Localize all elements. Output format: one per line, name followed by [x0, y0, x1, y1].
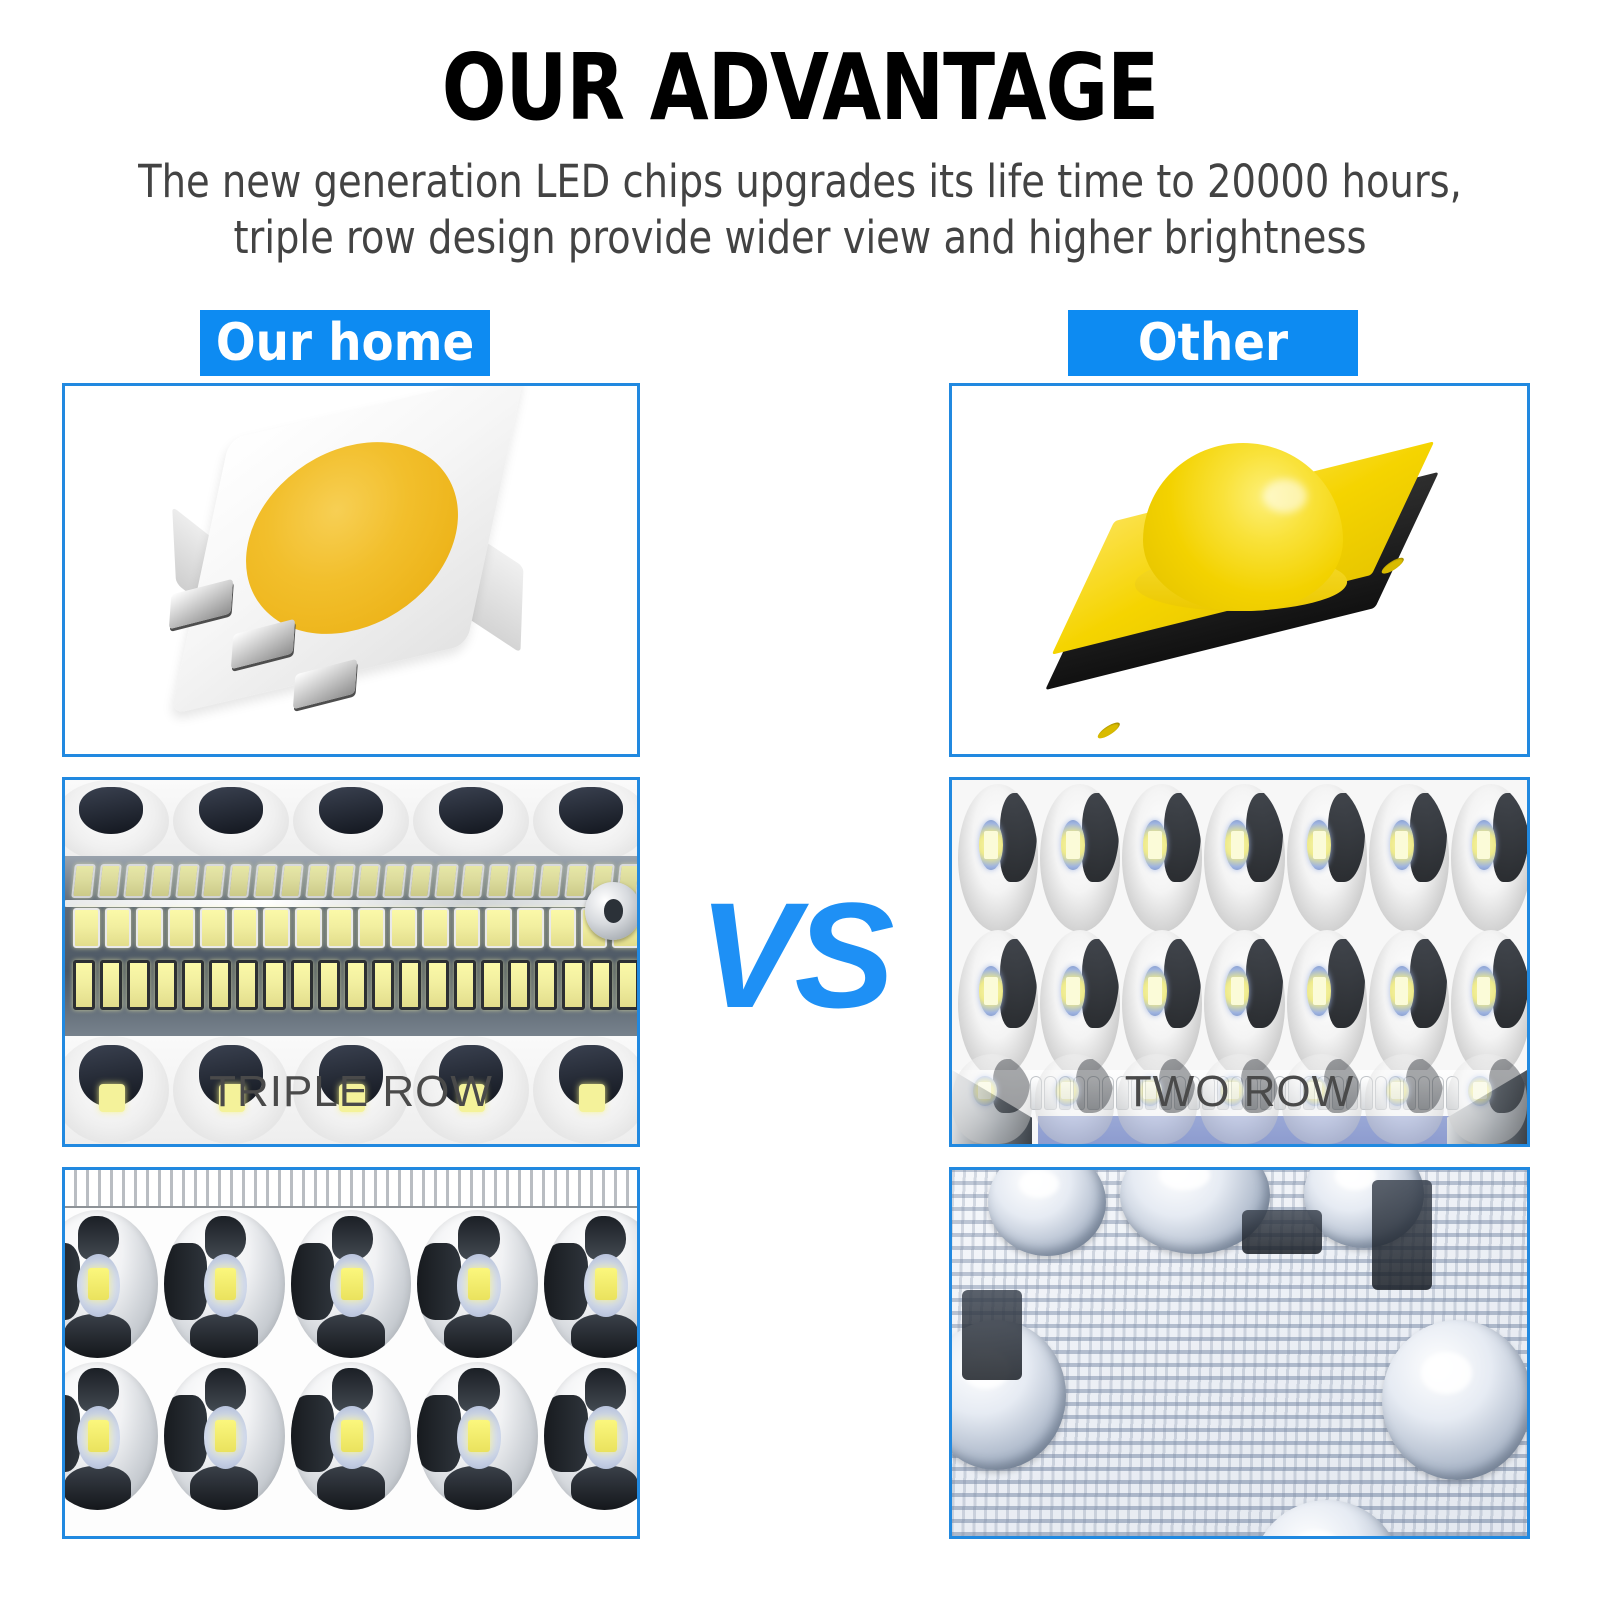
- led-chip: [486, 864, 511, 898]
- led-chip: [383, 864, 408, 898]
- led-chip: [201, 864, 226, 898]
- led-emitter: [979, 820, 1003, 870]
- led-emitter: [1307, 820, 1331, 870]
- led-emitter: [1225, 966, 1249, 1016]
- led-chip: [263, 908, 290, 948]
- cup-shadow: [417, 1243, 460, 1320]
- banner-our-home-label: Our home: [216, 317, 474, 369]
- panel-other-two-row: TWO ROW: [949, 777, 1530, 1147]
- reflector-cup: [1287, 784, 1367, 932]
- banner-other-label: Other: [1138, 317, 1288, 369]
- led-chip: [535, 960, 557, 1010]
- textured-reflector-illustration: [952, 1170, 1527, 1536]
- led-chip: [73, 960, 95, 1010]
- panel-our-home-reflectors: [62, 1167, 640, 1539]
- led-die: [595, 1268, 617, 1301]
- dome-led-photo: [952, 386, 1527, 754]
- dome-led-illustration: [1025, 425, 1455, 715]
- led-chip: [517, 908, 544, 948]
- led-chip: [73, 908, 100, 948]
- led-emitter: [1307, 966, 1331, 1016]
- cup-shadow: [571, 1314, 637, 1358]
- panel-our-home-triple-row: TRIPLE ROW: [62, 777, 640, 1147]
- led-chip: [175, 864, 200, 898]
- header: OUR ADVANTAGE The new generation LED chi…: [0, 0, 1600, 266]
- led-die: [468, 1268, 490, 1301]
- led-emitter: [979, 966, 1003, 1016]
- led-chip: [136, 908, 163, 948]
- led-chip: [291, 960, 313, 1010]
- led-chip-row-3: [73, 960, 637, 1010]
- led-die: [215, 1268, 237, 1301]
- chrome-cup-row-1: [65, 1210, 637, 1358]
- reflector-cup: [1369, 784, 1449, 932]
- led-chip: [426, 960, 448, 1010]
- led-chip-row-1: [73, 864, 637, 898]
- chrome-reflector-cup: [291, 1210, 412, 1358]
- led-chip: [305, 864, 330, 898]
- cup-shadow: [571, 1466, 637, 1510]
- led-emitter: [1472, 966, 1496, 1016]
- reflector-cup: [1040, 784, 1120, 932]
- led-chip: [123, 864, 148, 898]
- reflector-cup: [173, 780, 289, 862]
- reflector-cup: [1451, 784, 1527, 932]
- textured-reflector-photo: [952, 1170, 1527, 1536]
- caption-two-row: TWO ROW: [952, 1068, 1527, 1116]
- led-chip: [590, 960, 612, 1010]
- cup-shadow: [65, 1466, 131, 1510]
- led-die: [341, 1268, 363, 1301]
- reflector-cup: [1204, 784, 1284, 932]
- led-chip: [263, 960, 285, 1010]
- banner-our-home: Our home: [200, 310, 490, 376]
- led-chip: [358, 908, 385, 948]
- led-chip: [232, 908, 259, 948]
- led-chip: [357, 864, 382, 898]
- led-chip: [149, 864, 174, 898]
- reflector-cup: [533, 780, 637, 862]
- chrome-reflector-cup: [544, 1210, 637, 1358]
- smd-5050-led-illustration: [136, 405, 566, 735]
- led-chip: [422, 908, 449, 948]
- chrome-reflector-illustration: [65, 1170, 637, 1536]
- chrome-cup-row-2: [65, 1362, 637, 1510]
- chrome-reflector-cup: [544, 1362, 637, 1510]
- led-chip: [182, 960, 204, 1010]
- led-chip: [253, 864, 278, 898]
- cup-shadow: [190, 1314, 258, 1358]
- led-chip: [461, 864, 486, 898]
- infographic-root: OUR ADVANTAGE The new generation LED chi…: [0, 0, 1600, 1600]
- housing-lip: [65, 1170, 637, 1208]
- cup-shadow: [291, 1395, 334, 1472]
- cup-shadow: [444, 1466, 512, 1510]
- vs-label: VS: [640, 880, 949, 1030]
- page-title: OUR ADVANTAGE: [64, 40, 1536, 136]
- dome-lens: [1252, 1500, 1402, 1536]
- chrome-reflector-cup: [164, 1210, 285, 1358]
- led-emitter: [1390, 966, 1414, 1016]
- led-chip: [454, 960, 476, 1010]
- led-chip: [71, 864, 96, 898]
- reflector-cup: [65, 780, 169, 862]
- led-chip: [200, 908, 227, 948]
- led-chip: [549, 908, 576, 948]
- led-chip: [399, 960, 421, 1010]
- chrome-reflector-cup: [291, 1362, 412, 1510]
- chrome-reflector-cup: [65, 1210, 158, 1358]
- led-emitter: [1143, 966, 1167, 1016]
- led-chip: [105, 908, 132, 948]
- cup-shadow: [417, 1395, 460, 1472]
- led-chip: [435, 864, 460, 898]
- caption-triple-row: TRIPLE ROW: [65, 1068, 637, 1116]
- cup-shadow: [291, 1243, 334, 1320]
- led-chip: [372, 960, 394, 1010]
- substrate-notch: [1093, 721, 1124, 741]
- smd-chip-photo: [65, 386, 637, 754]
- reflector-cup: [293, 780, 409, 862]
- led-emitter: [1061, 966, 1085, 1016]
- panel-other-reflectors: [949, 1167, 1530, 1539]
- mounting-screw: [585, 882, 637, 940]
- led-chip: [100, 960, 122, 1010]
- two-row-board-photo: TWO ROW: [952, 780, 1527, 1144]
- led-die: [88, 1268, 110, 1301]
- led-die: [468, 1420, 490, 1453]
- led-chip: [318, 960, 340, 1010]
- led-emitter: [1143, 820, 1167, 870]
- led-chip: [227, 864, 252, 898]
- led-emitter: [1061, 820, 1085, 870]
- cup-shadow: [190, 1466, 258, 1510]
- reflector-cups-photo: [65, 1170, 637, 1536]
- reflector-cup: [958, 784, 1038, 932]
- panel-other-chip: [949, 383, 1530, 757]
- led-chip-row-2: [73, 908, 637, 948]
- dome-lens: [988, 1170, 1106, 1256]
- chrome-reflector-cup: [164, 1362, 285, 1510]
- page-subtitle: The new generation LED chips upgrades it…: [88, 154, 1513, 266]
- surface-shadow: [1242, 1210, 1322, 1254]
- dome-lens: [1143, 443, 1343, 611]
- led-chip: [562, 960, 584, 1010]
- surface-shadow: [1372, 1180, 1432, 1290]
- dome-lens: [1382, 1320, 1527, 1480]
- led-chip: [617, 960, 637, 1010]
- led-die: [341, 1420, 363, 1453]
- led-chip: [409, 864, 434, 898]
- led-chip: [127, 960, 149, 1010]
- surface-shadow: [962, 1290, 1022, 1380]
- led-chip: [512, 864, 537, 898]
- led-chip: [485, 908, 512, 948]
- led-chip: [236, 960, 258, 1010]
- led-chip: [209, 960, 231, 1010]
- cup-shadow: [164, 1243, 207, 1320]
- chrome-reflector-cup: [65, 1362, 158, 1510]
- led-die: [595, 1420, 617, 1453]
- chrome-reflector-cup: [417, 1362, 538, 1510]
- led-chip: [481, 960, 503, 1010]
- led-emitter: [1472, 820, 1496, 870]
- cup-shadow: [544, 1395, 587, 1472]
- led-chip: [508, 960, 530, 1010]
- led-chip: [295, 908, 322, 948]
- led-chip: [168, 908, 195, 948]
- led-chip: [327, 908, 354, 948]
- led-chip: [97, 864, 122, 898]
- reflector-cup-row-1: [958, 784, 1527, 932]
- led-chip: [390, 908, 417, 948]
- cup-shadow: [65, 1314, 131, 1358]
- led-chip: [538, 864, 563, 898]
- reflector-cup: [1122, 784, 1202, 932]
- led-emitter: [1225, 820, 1249, 870]
- led-chip: [331, 864, 356, 898]
- reflector-cup-row-top: [65, 780, 637, 862]
- led-chip: [454, 908, 481, 948]
- cup-shadow: [444, 1314, 512, 1358]
- led-mount-plate: [65, 856, 637, 1042]
- banner-other: Other: [1068, 310, 1358, 376]
- panel-our-home-chip: [62, 383, 640, 757]
- led-die: [88, 1420, 110, 1453]
- cup-shadow: [544, 1243, 587, 1320]
- chrome-reflector-cup: [417, 1210, 538, 1358]
- cup-shadow: [317, 1314, 385, 1358]
- led-chip: [155, 960, 177, 1010]
- led-chip: [345, 960, 367, 1010]
- cup-shadow: [164, 1395, 207, 1472]
- led-chip: [279, 864, 304, 898]
- triple-row-board-photo: TRIPLE ROW: [65, 780, 637, 1144]
- solder-trace: [65, 900, 637, 907]
- led-emitter: [1390, 820, 1414, 870]
- led-die: [215, 1420, 237, 1453]
- reflector-cup: [413, 780, 529, 862]
- led-chip: [564, 864, 589, 898]
- cup-shadow: [317, 1466, 385, 1510]
